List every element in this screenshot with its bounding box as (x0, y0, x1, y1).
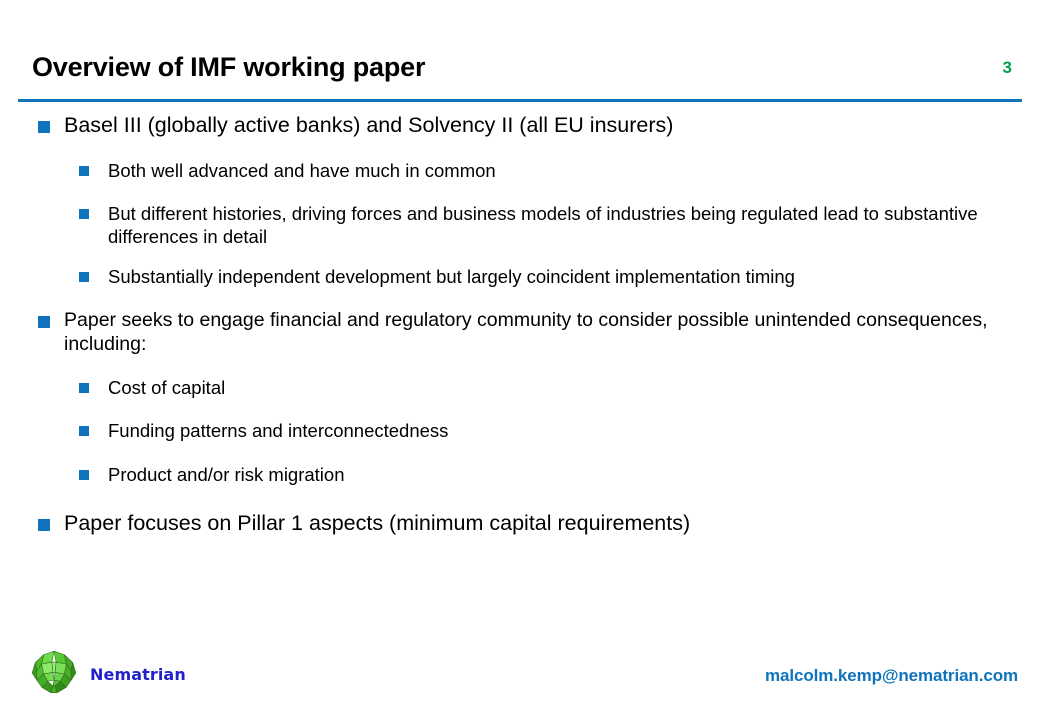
bullet-level1: Paper focuses on Pillar 1 aspects (minim… (0, 510, 1040, 537)
spacer (0, 182, 1040, 202)
polyhedron-icon (28, 648, 80, 700)
spacer (0, 288, 1040, 308)
bullet-text: Product and/or risk migration (108, 463, 1000, 486)
bullet-level2: But different histories, driving forces … (0, 202, 1040, 249)
bullet-level1: Paper seeks to engage financial and regu… (0, 308, 1040, 356)
bullet-marker-icon (79, 272, 89, 282)
page-title: Overview of IMF working paper (32, 52, 425, 83)
bullet-text: Cost of capital (108, 376, 1000, 399)
slide-body: Basel III (globally active banks) and So… (0, 112, 1040, 537)
bullet-level2: Substantially independent development bu… (0, 265, 1040, 288)
spacer (0, 486, 1040, 510)
bullet-text: Basel III (globally active banks) and So… (64, 112, 1000, 139)
page-number: 3 (1003, 58, 1012, 78)
bullet-text: Substantially independent development bu… (108, 265, 1000, 288)
slide-footer: Nematrian malcolm.kemp@nematrian.com (0, 640, 1040, 720)
bullet-marker-icon (79, 166, 89, 176)
bullet-text: Both well advanced and have much in comm… (108, 159, 1000, 182)
bullet-level2: Funding patterns and interconnectedness (0, 419, 1040, 442)
bullet-marker-icon (38, 519, 50, 531)
brand-logo-group: Nematrian (28, 648, 186, 700)
bullet-level2: Both well advanced and have much in comm… (0, 159, 1040, 182)
bullet-level2: Cost of capital (0, 376, 1040, 399)
contact-email[interactable]: malcolm.kemp@nematrian.com (765, 666, 1018, 686)
bullet-text: Funding patterns and interconnectedness (108, 419, 1000, 442)
spacer (0, 443, 1040, 463)
spacer (0, 399, 1040, 419)
bullet-level2: Product and/or risk migration (0, 463, 1040, 486)
bullet-marker-icon (38, 121, 50, 133)
bullet-marker-icon (38, 316, 50, 328)
title-divider (18, 99, 1022, 102)
bullet-marker-icon (79, 209, 89, 219)
brand-name: Nematrian (90, 665, 186, 684)
bullet-marker-icon (79, 383, 89, 393)
bullet-text: Paper focuses on Pillar 1 aspects (minim… (64, 510, 1000, 537)
spacer (0, 139, 1040, 159)
spacer (0, 356, 1040, 376)
spacer (0, 249, 1040, 265)
bullet-marker-icon (79, 426, 89, 436)
bullet-marker-icon (79, 470, 89, 480)
slide: Overview of IMF working paper 3 Basel II… (0, 0, 1040, 720)
bullet-text: Paper seeks to engage financial and regu… (64, 308, 1000, 356)
bullet-level1: Basel III (globally active banks) and So… (0, 112, 1040, 139)
slide-header: Overview of IMF working paper 3 (0, 52, 1040, 98)
bullet-text: But different histories, driving forces … (108, 202, 1000, 249)
